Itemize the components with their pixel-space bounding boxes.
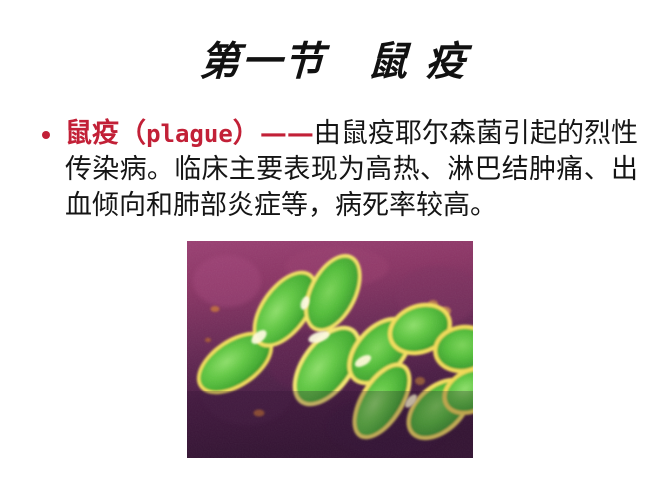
- page-title: 第一节 鼠 疫: [0, 36, 667, 88]
- paren-open: （: [119, 118, 146, 149]
- bullet-list-item: 鼠疫（plague）——由鼠疫耶尔森菌引起的烈性传染病。临床主要表现为高热、淋巴…: [38, 116, 638, 224]
- bullet-dot-icon: [42, 131, 50, 139]
- definition-paragraph: 鼠疫（plague）——由鼠疫耶尔森菌引起的烈性传染病。临床主要表现为高热、淋巴…: [65, 116, 638, 224]
- em-dash: ——: [260, 118, 314, 149]
- term-chinese: 鼠疫: [65, 118, 119, 149]
- slide-canvas: 第一节 鼠 疫 鼠疫（plague）——由鼠疫耶尔森菌引起的烈性传染病。临床主要…: [0, 0, 667, 500]
- body-content: 鼠疫（plague）——由鼠疫耶尔森菌引起的烈性传染病。临床主要表现为高热、淋巴…: [38, 116, 638, 224]
- micrograph-artwork: [187, 241, 473, 458]
- paren-close: ）: [233, 118, 260, 149]
- plague-bacteria-micrograph: 鼠疫耶尔森菌电子显微镜着色照片: [187, 241, 473, 458]
- term-english: plague: [146, 120, 233, 148]
